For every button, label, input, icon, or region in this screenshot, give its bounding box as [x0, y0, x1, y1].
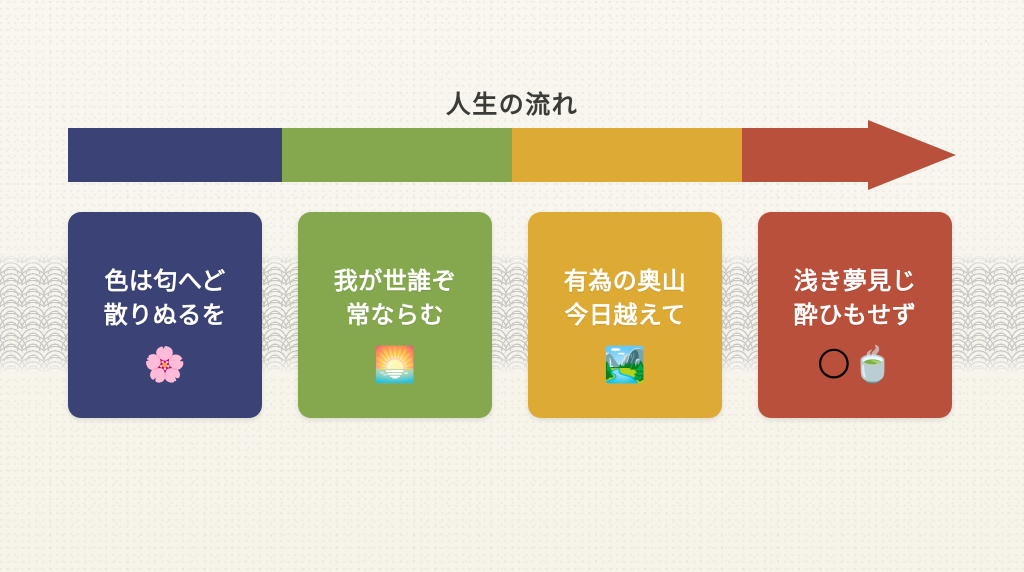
arrow-segment-gold	[512, 120, 742, 190]
stage-card-1-text: 色は匂へど 散りぬるを	[104, 264, 227, 332]
stage-card-4-text: 浅き夢見じ 酔ひもせず	[794, 264, 917, 332]
mountain-river-icon: 🏞️	[604, 348, 646, 382]
stage-card-2[interactable]: 我が世誰ぞ 常ならむ 🌅	[298, 212, 492, 418]
arrow-segment-navy	[68, 120, 282, 190]
stage-card-4[interactable]: 浅き夢見じ 酔ひもせず 🌕🍵	[758, 212, 952, 418]
moon-and-sake-cup-icon: 🌕🍵	[816, 348, 894, 382]
arrow-svg	[68, 120, 956, 190]
stage-card-2-text: 我が世誰ぞ 常ならむ	[334, 264, 457, 332]
page-title: 人生の流れ	[0, 92, 1024, 117]
cherry-blossom-icon: 🌸	[144, 348, 186, 382]
sunrise-icon: 🌅	[374, 348, 416, 382]
arrow-segment-red	[742, 120, 956, 190]
slide-canvas: 人生の流れ 色は匂へど 散りぬるを 🌸 我が世誰ぞ 常ならむ 🌅 有為の奥山 今…	[0, 0, 1024, 572]
stage-card-3-text: 有為の奥山 今日越えて	[564, 264, 687, 332]
arrow-segment-green	[282, 120, 512, 190]
life-flow-arrow	[68, 120, 956, 190]
stage-card-1[interactable]: 色は匂へど 散りぬるを 🌸	[68, 212, 262, 418]
stage-card-3[interactable]: 有為の奥山 今日越えて 🏞️	[528, 212, 722, 418]
